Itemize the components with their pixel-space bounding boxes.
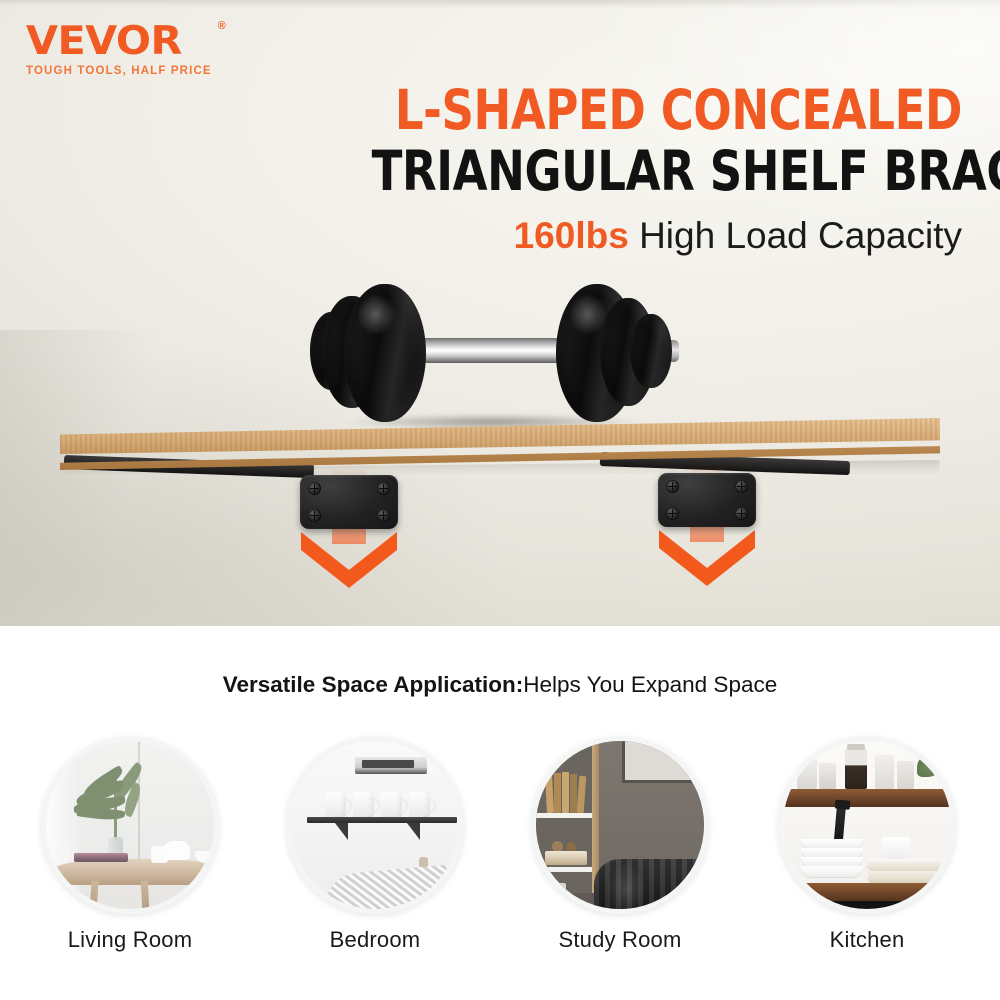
brand-logo: VEVOR® TOUGH TOOLS, HALF PRICE: [26, 22, 212, 77]
capacity-text: High Load Capacity: [629, 215, 962, 256]
load-arrow-head: [301, 528, 397, 588]
brand-wordmark: VEVOR: [26, 22, 182, 62]
headline-line-2: TRIANGULAR SHELF BRACKET: [372, 140, 962, 202]
registered-mark-icon: ®: [218, 20, 226, 32]
application-title-bold: Versatile Space Application:: [223, 672, 524, 697]
tile-image-bedroom: [286, 736, 464, 914]
bracket-icon: [407, 823, 420, 840]
brand-tagline: TOUGH TOOLS, HALF PRICE: [26, 65, 212, 77]
tile-image-living-room: [41, 736, 219, 914]
jar-icon: [875, 755, 894, 789]
screw-icon: [308, 509, 321, 522]
headline-line-1: L-SHAPED CONCEALED: [372, 80, 962, 140]
wood-shelf-icon: [783, 789, 951, 807]
bracket-wall-plate-right: [658, 473, 756, 527]
scene-kitchen: [783, 741, 951, 909]
application-tile-bedroom[interactable]: Bedroom: [285, 736, 465, 953]
mug-icon: [353, 791, 374, 818]
bowl-stack-icon: [801, 839, 863, 883]
screw-icon: [666, 507, 679, 520]
screw-icon: [308, 482, 321, 495]
screw-icon: [735, 507, 748, 520]
jar-icon: [797, 759, 817, 789]
scene-bedroom: [291, 741, 459, 909]
jar-icon: [897, 761, 914, 789]
tile-label-living-room: Living Room: [40, 927, 220, 953]
load-arrow-head: [659, 526, 755, 586]
jar-icon: [845, 749, 867, 789]
mug-icon: [409, 791, 430, 818]
dumbbell-icon: [300, 282, 700, 427]
hero-section: VEVOR® TOUGH TOOLS, HALF PRICE L-SHAPED …: [0, 0, 1000, 626]
screw-icon: [377, 509, 390, 522]
book-stack-icon: [545, 851, 587, 865]
wall-shelf-icon: [307, 817, 457, 823]
screw-icon: [666, 480, 679, 493]
cup-icon: [881, 837, 911, 859]
application-tile-living-room[interactable]: Living Room: [40, 736, 220, 953]
application-tiles: Living Room: [0, 736, 1000, 976]
application-title: Versatile Space Application:Helps You Ex…: [0, 672, 1000, 698]
bracket-wall-plate-left: [300, 475, 398, 529]
tile-label-kitchen: Kitchen: [777, 927, 957, 953]
hero-headline: L-SHAPED CONCEALED TRIANGULAR SHELF BRAC…: [242, 80, 962, 258]
picture-frame-icon: [622, 741, 709, 783]
capacity-value: 160lbs: [514, 215, 629, 256]
mug-icon: [325, 791, 346, 818]
tile-image-study-room: [531, 736, 709, 914]
wood-shelf-icon: [783, 883, 951, 901]
bookcase-icon: [536, 741, 596, 909]
screw-icon: [735, 480, 748, 493]
wood-shelf-board: [60, 418, 940, 498]
application-title-rest: Helps You Expand Space: [523, 672, 777, 697]
screw-icon: [377, 482, 390, 495]
dumbbell-plate: [630, 314, 672, 388]
tile-image-kitchen: [778, 736, 956, 914]
application-tile-study-room[interactable]: Study Room: [530, 736, 710, 953]
scene-living-room: [46, 741, 214, 909]
plate-stack-icon: [867, 859, 951, 885]
teapot-icon: [164, 841, 190, 860]
mug-icon: [381, 791, 402, 818]
tile-label-bedroom: Bedroom: [285, 927, 465, 953]
jar-icon: [819, 763, 836, 789]
books-icon: [74, 853, 128, 862]
scene-study-room: [536, 741, 704, 909]
upper-shelf-icon: [355, 757, 427, 774]
capacity-line: 160lbs High Load Capacity: [242, 214, 962, 258]
product-marketing-page: VEVOR® TOUGH TOOLS, HALF PRICE L-SHAPED …: [0, 0, 1000, 1000]
bracket-icon: [335, 823, 348, 840]
tile-label-study-room: Study Room: [530, 927, 710, 953]
application-section: Versatile Space Application:Helps You Ex…: [0, 626, 1000, 1000]
dumbbell-plate: [344, 284, 426, 422]
application-tile-kitchen[interactable]: Kitchen: [777, 736, 957, 953]
